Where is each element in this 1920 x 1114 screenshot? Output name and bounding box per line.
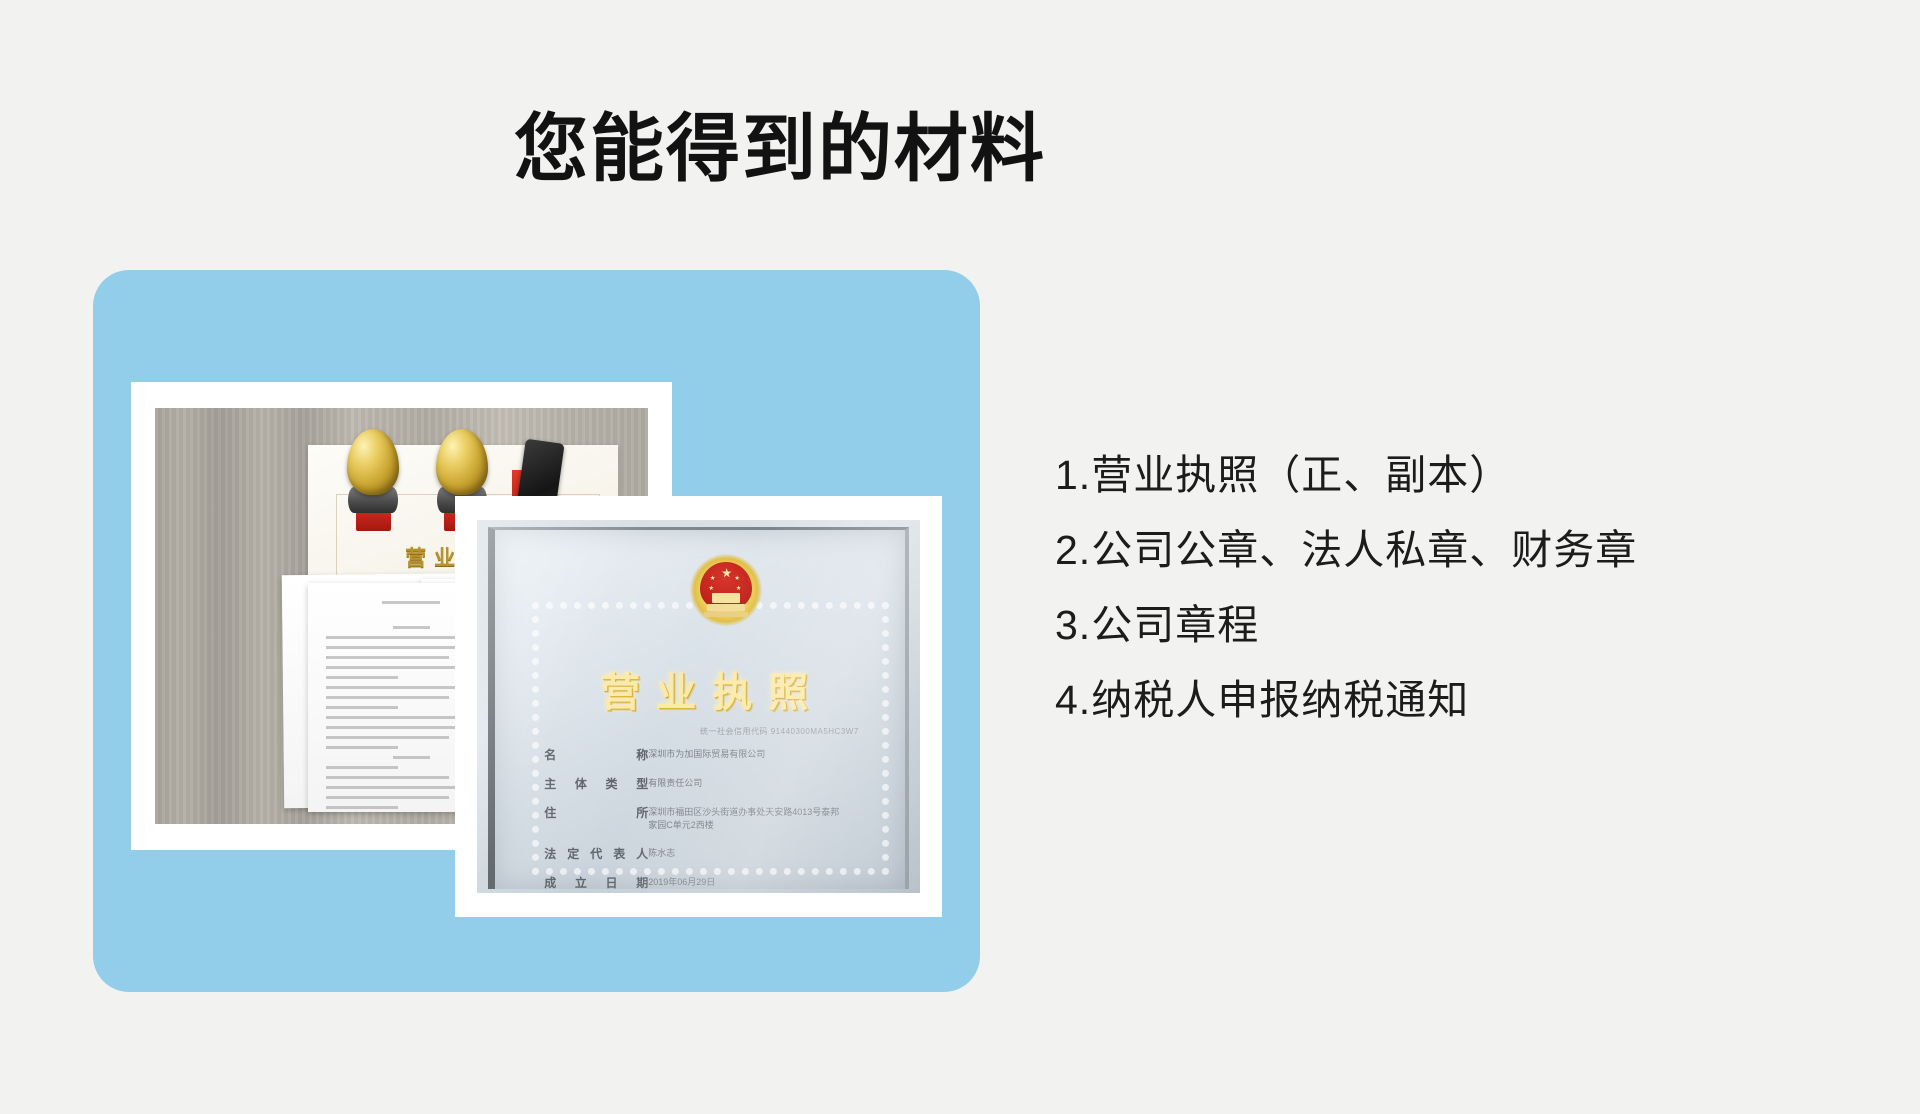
license-photo-background: 营业执照 统一社会信用代码 91440300MA5HC3W7 名称 深圳市为加国… (477, 520, 920, 893)
license-unified-code: 统一社会信用代码 91440300MA5HC3W7 (700, 726, 884, 737)
photo-frame-license: 营业执照 统一社会信用代码 91440300MA5HC3W7 名称 深圳市为加国… (455, 496, 942, 917)
license-field-label: 住所 (544, 804, 648, 821)
license-glass-frame: 营业执照 统一社会信用代码 91440300MA5HC3W7 名称 深圳市为加国… (488, 527, 909, 889)
license-field-row: 主体类型 有限责任公司 (544, 775, 880, 792)
license-field-value: 有限责任公司 (648, 775, 702, 791)
license-field-row: 法定代表人 陈水志 (544, 845, 880, 862)
license-field-value: 深圳市福田区沙头街道办事处天安路4013号泰邦 家园C单元2西楼 (648, 804, 839, 833)
license-field-label: 法定代表人 (544, 845, 648, 862)
license-field-label: 主体类型 (544, 775, 648, 792)
license-field-row: 名称 深圳市为加国际贸易有限公司 (544, 746, 880, 763)
license-field-value: 陈水志 (648, 845, 675, 861)
license-field-table: 名称 深圳市为加国际贸易有限公司 主体类型 有限责任公司 (544, 746, 880, 893)
photo-framed-business-license: 营业执照 统一社会信用代码 91440300MA5HC3W7 名称 深圳市为加国… (477, 520, 920, 893)
gold-stamp-icon (347, 429, 399, 529)
list-item: 1.营业执照（正、副本） (1055, 455, 1815, 496)
list-item: 2.公司公章、法人私章、财务章 (1055, 530, 1815, 571)
list-item: 3.公司章程 (1055, 605, 1815, 646)
license-field-label: 名称 (544, 746, 648, 763)
unified-code-value: 91440300MA5HC3W7 (771, 727, 859, 736)
license-field-row: 成立日期 2019年06月29日 (544, 874, 880, 891)
materials-list: 1.营业执照（正、副本） 2.公司公章、法人私章、财务章 3.公司章程 4.纳税… (1055, 455, 1815, 755)
license-field-label: 成立日期 (544, 874, 648, 891)
page-title: 您能得到的材料 (0, 112, 1560, 186)
license-field-value: 2019年06月29日 (648, 874, 715, 890)
license-heading: 营业执照 (552, 660, 872, 718)
slide-canvas: 您能得到的材料 营业执照 (0, 0, 1920, 1114)
unified-code-label: 统一社会信用代码 (700, 727, 768, 736)
list-item: 4.纳税人申报纳税通知 (1055, 680, 1815, 721)
license-field-row: 住所 深圳市福田区沙头街道办事处天安路4013号泰邦 家园C单元2西楼 (544, 804, 880, 833)
national-emblem-icon (690, 554, 762, 626)
license-field-value: 深圳市为加国际贸易有限公司 (648, 746, 765, 762)
